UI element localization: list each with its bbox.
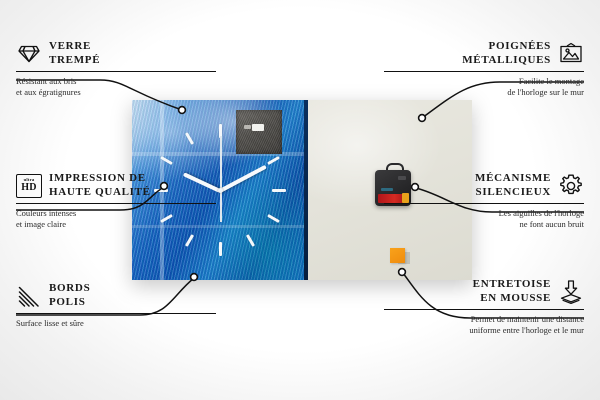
gear-icon [558,173,584,199]
callout-divider [16,203,216,204]
callout-header: ultra HD IMPRESSION DE HAUTE QUALITÉ [16,172,216,200]
callout-header: MÉCANISME SILENCIEUX [384,172,584,200]
callout-mecanisme-silencieux: MÉCANISME SILENCIEUX Les aiguilles de l'… [384,172,584,230]
callout-divider [16,313,216,314]
callout-title: BORDS POLIS [49,282,90,310]
picture-frame-hanger-icon [558,41,584,67]
diamond-icon [16,41,42,67]
callout-bords-polis: BORDS POLIS Surface lisse et sûre [16,282,216,329]
hour-tick [272,189,286,192]
infographic-canvas: VERRE TREMPÉ Résistant aux bris et aux é… [0,0,600,400]
callout-subtitle: Couleurs intenses et image claire [16,208,216,231]
callout-divider [16,71,216,72]
metal-hanger-plate [236,110,282,154]
clock-hands-hub [218,188,223,193]
callout-subtitle: Permet de maintenir une distance uniform… [384,314,584,337]
callout-entretoise-en-mousse: ENTRETOISE EN MOUSSE Permet de maintenir… [384,278,584,336]
hanger-slot [252,124,264,131]
callout-divider [384,203,584,204]
callout-subtitle: Surface lisse et sûre [16,318,216,329]
foam-spacer-arrow-icon [558,279,584,305]
hour-tick [219,242,222,256]
callout-title: MÉCANISME SILENCIEUX [475,172,551,200]
callout-poignees-metalliques: POIGNÉES MÉTALLIQUES Facilite le montage… [384,40,584,98]
callout-subtitle: Facilite le montage de l'horloge sur le … [384,76,584,99]
callout-subtitle: Résistant aux bris et aux égratignures [16,76,216,99]
callout-divider [384,309,584,310]
callout-title: POIGNÉES MÉTALLIQUES [462,40,551,68]
hanger-slot-secondary [244,125,251,129]
polished-edges-icon [16,283,42,309]
callout-title: VERRE TREMPÉ [49,40,100,68]
ultra-hd-badge-icon: ultra HD [16,173,42,199]
callout-header: ENTRETOISE EN MOUSSE [384,278,584,306]
callout-divider [384,71,584,72]
second-hand [220,136,222,222]
callout-title: ENTRETOISE EN MOUSSE [473,278,551,306]
callout-title: IMPRESSION DE HAUTE QUALITÉ [49,172,151,200]
callout-impression-haute-qualite: ultra HD IMPRESSION DE HAUTE QUALITÉ Cou… [16,172,216,230]
callout-verre-trempe: VERRE TREMPÉ Résistant aux bris et aux é… [16,40,216,98]
callout-header: VERRE TREMPÉ [16,40,216,68]
callout-header: BORDS POLIS [16,282,216,310]
ultra-hd-large-text: HD [21,183,37,193]
callout-header: POIGNÉES MÉTALLIQUES [384,40,584,68]
foam-spacer [390,248,405,263]
callout-subtitle: Les aiguilles de l'horloge ne font aucun… [384,208,584,231]
